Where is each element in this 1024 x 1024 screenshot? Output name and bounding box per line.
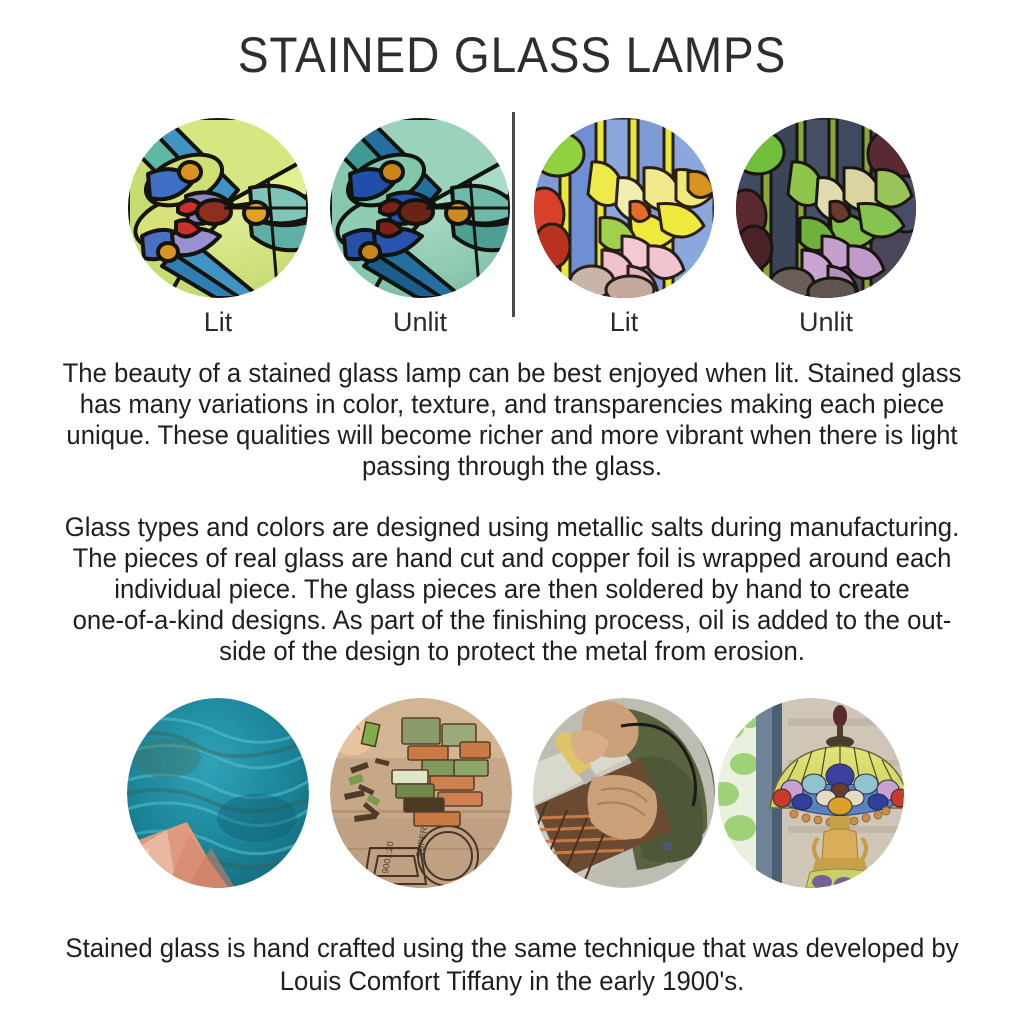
caption-unlit-2: Unlit [736,307,916,338]
lit-floral-circle [534,118,714,298]
comparison-row: Lit Unlit Lit Unlit [0,112,1024,342]
unlit-geometric-circle [330,118,510,298]
manufacturing-paragraph: Glass types and colors are designed usin… [48,512,975,667]
paragraph-line: passing through the glass. [48,451,975,482]
glass-sheet-photo [127,698,309,888]
paragraph-line: one-of-a-kind designs. As part of the fi… [48,605,975,636]
page-title: STAINED GLASS LAMPS [41,26,983,84]
paragraph-line: has many variations in color, texture, a… [48,389,975,420]
tiffany-credit: Stained glass is hand crafted using the … [48,932,975,998]
caption-lit-1: Lit [128,307,308,338]
paragraph-line: individual piece. The glass pieces are t… [48,574,975,605]
paragraph-line: Glass types and colors are designed usin… [48,512,975,543]
footer-line: Louis Comfort Tiffany in the early 1900'… [48,965,975,998]
process-photo-row: SUPER QU 9001:20 [0,698,1024,893]
copper-foiling-photo: SUPER QU 9001:20 [330,698,512,888]
infographic-page: STAINED GLASS LAMPS [0,0,1024,1024]
lit-geometric-circle [128,118,308,298]
unlit-floral-circle [736,118,916,298]
caption-unlit-1: Unlit [330,307,510,338]
paragraph-line: side of the design to protect the metal … [48,636,975,667]
finished-lamp-photo [718,698,904,888]
paragraph-line: unique. These qualities will become rich… [48,420,975,451]
soldering-photo [533,698,715,888]
section-divider [512,112,515,317]
footer-line: Stained glass is hand crafted using the … [48,932,975,965]
paragraph-line: The beauty of a stained glass lamp can b… [48,358,975,389]
beauty-paragraph: The beauty of a stained glass lamp can b… [48,358,975,482]
caption-lit-2: Lit [534,307,714,338]
paragraph-line: The pieces of real glass are hand cut an… [48,543,975,574]
